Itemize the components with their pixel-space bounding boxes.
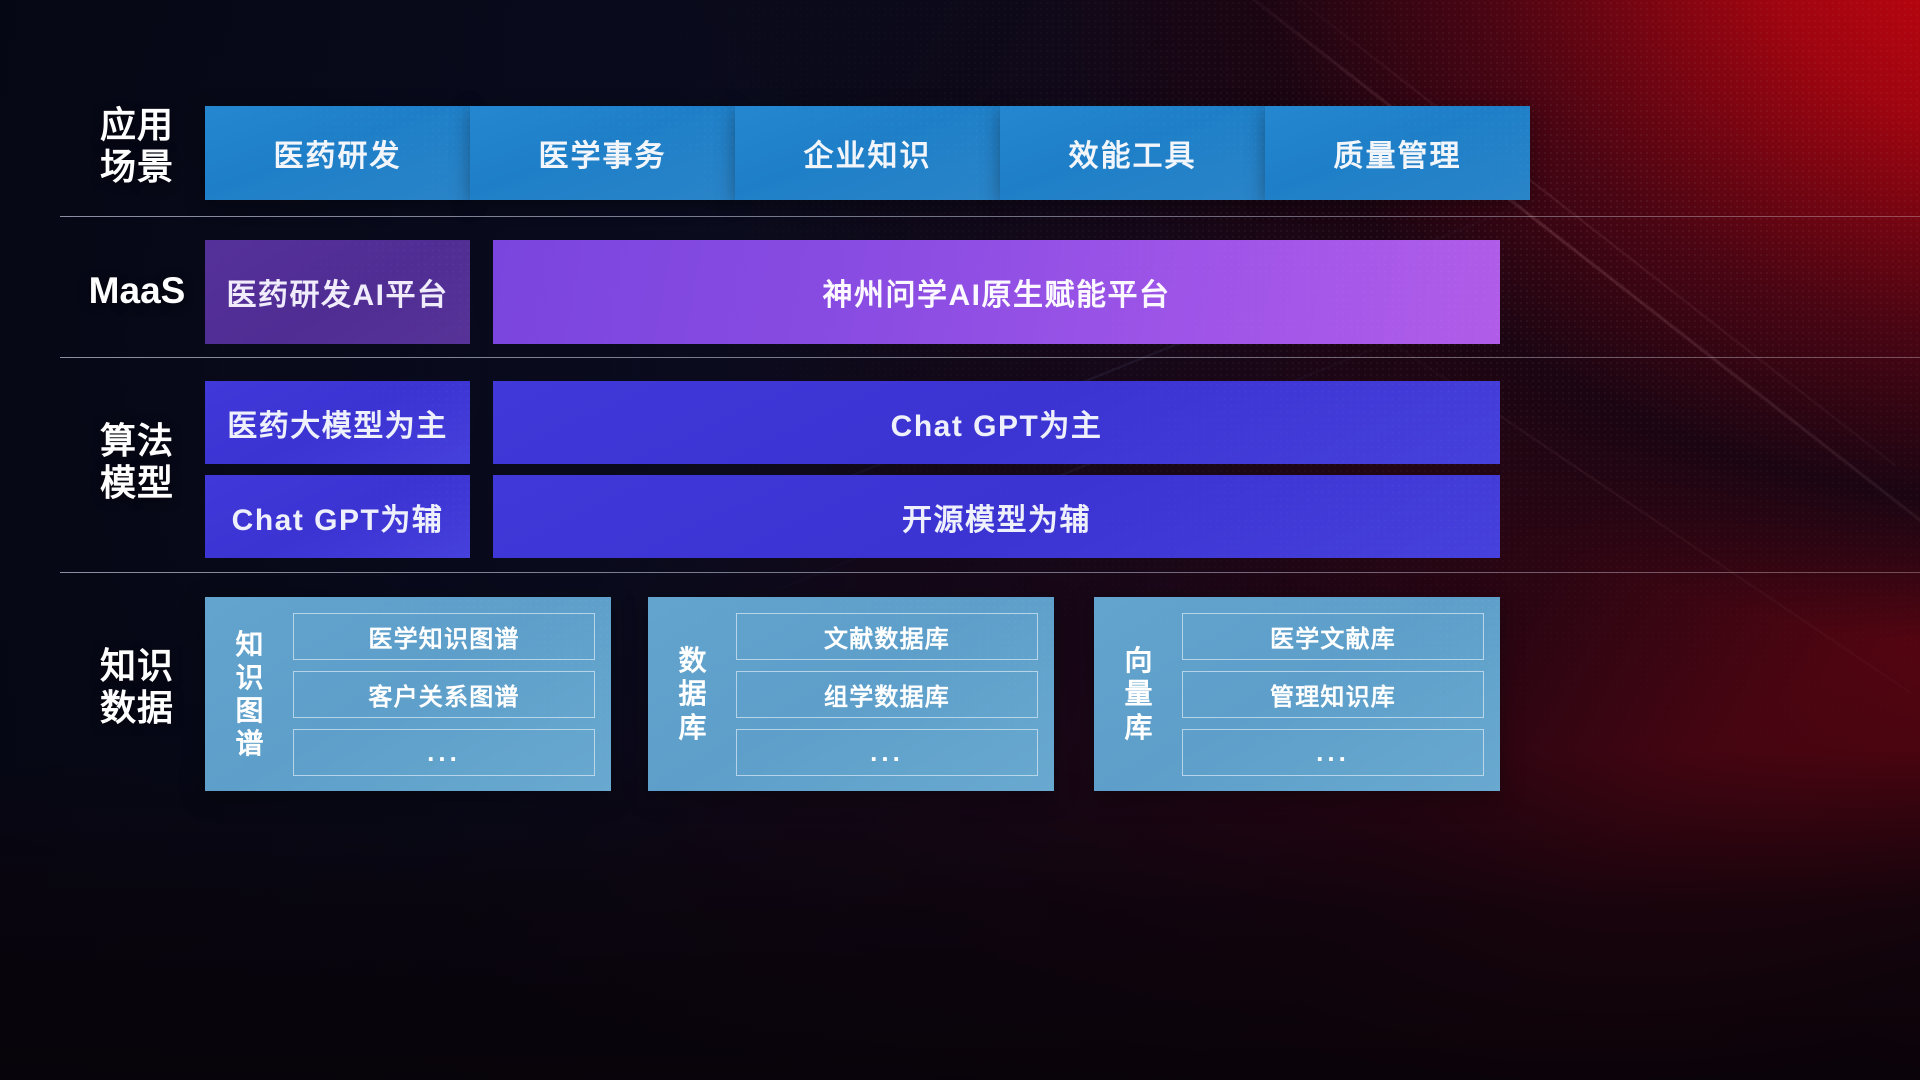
- app-box-3[interactable]: 企业知识: [735, 106, 1000, 200]
- algo-box-left-1[interactable]: 医药大模型为主: [205, 381, 470, 464]
- knowledge-panel-vector-label: 向量库: [1110, 644, 1168, 743]
- app-box-3-label: 企业知识: [804, 131, 932, 175]
- row-label-application: 应用 场景: [72, 104, 202, 188]
- algo-box-right-1[interactable]: Chat GPT为主: [493, 381, 1500, 464]
- row-label-knowledge: 知识 数据: [72, 645, 202, 729]
- knowledge-panel-database-label-text: 数据库: [678, 644, 707, 743]
- maas-enablement-label: 神州问学AI原生赋能平台: [823, 270, 1171, 314]
- maas-platform-label: 医药研发AI平台: [227, 270, 449, 314]
- algo-box-right-1-label: Chat GPT为主: [891, 401, 1103, 445]
- knowledge-panel-database-items: 文献数据库 组学数据库 ...: [722, 613, 1038, 776]
- row-label-algorithm: 算法 模型: [72, 420, 202, 504]
- maas-enablement-box[interactable]: 神州问学AI原生赋能平台: [493, 240, 1500, 344]
- knowledge-panel-graph-items: 医学知识图谱 客户关系图谱 ...: [279, 613, 595, 776]
- algo-box-left-2-label: Chat GPT为辅: [232, 495, 444, 539]
- list-item[interactable]: 客户关系图谱: [293, 671, 595, 718]
- app-box-5-label: 质量管理: [1334, 131, 1462, 175]
- list-item[interactable]: 文献数据库: [736, 613, 1038, 660]
- algo-box-right-2-label: 开源模型为辅: [902, 495, 1091, 539]
- list-item[interactable]: ...: [736, 729, 1038, 776]
- list-item[interactable]: ...: [293, 729, 595, 776]
- app-box-2-label: 医学事务: [539, 131, 667, 175]
- app-box-4-label: 效能工具: [1069, 131, 1197, 175]
- knowledge-panel-database-label: 数据库: [664, 644, 722, 743]
- divider-2: [60, 357, 1920, 358]
- list-item[interactable]: 医学知识图谱: [293, 613, 595, 660]
- app-box-1[interactable]: 医药研发: [205, 106, 470, 200]
- app-box-5[interactable]: 质量管理: [1265, 106, 1530, 200]
- knowledge-panel-vector-items: 医学文献库 管理知识库 ...: [1168, 613, 1484, 776]
- divider-3: [60, 572, 1920, 573]
- list-item[interactable]: 医学文献库: [1182, 613, 1484, 660]
- knowledge-panel-vector[interactable]: 向量库 医学文献库 管理知识库 ...: [1094, 597, 1500, 791]
- algo-box-left-1-label: 医药大模型为主: [227, 401, 448, 445]
- architecture-diagram: 应用 场景 医药研发 医学事务 企业知识 效能工具 质量管理 MaaS 医药研发…: [0, 0, 1920, 1080]
- algo-box-left-2[interactable]: Chat GPT为辅: [205, 475, 470, 558]
- knowledge-panel-graph[interactable]: 知识图谱 医学知识图谱 客户关系图谱 ...: [205, 597, 611, 791]
- list-item[interactable]: 管理知识库: [1182, 671, 1484, 718]
- knowledge-panel-vector-label-text: 向量库: [1124, 644, 1153, 743]
- divider-1: [60, 216, 1920, 217]
- knowledge-panel-graph-label: 知识图谱: [221, 628, 279, 760]
- algo-box-right-2[interactable]: 开源模型为辅: [493, 475, 1500, 558]
- row-label-maas: MaaS: [72, 270, 202, 313]
- app-box-1-label: 医药研发: [274, 131, 402, 175]
- app-box-2[interactable]: 医学事务: [470, 106, 735, 200]
- knowledge-panel-graph-label-text: 知识图谱: [235, 628, 264, 760]
- knowledge-panel-database[interactable]: 数据库 文献数据库 组学数据库 ...: [648, 597, 1054, 791]
- list-item[interactable]: ...: [1182, 729, 1484, 776]
- maas-platform-box[interactable]: 医药研发AI平台: [205, 240, 470, 344]
- app-box-4[interactable]: 效能工具: [1000, 106, 1265, 200]
- list-item[interactable]: 组学数据库: [736, 671, 1038, 718]
